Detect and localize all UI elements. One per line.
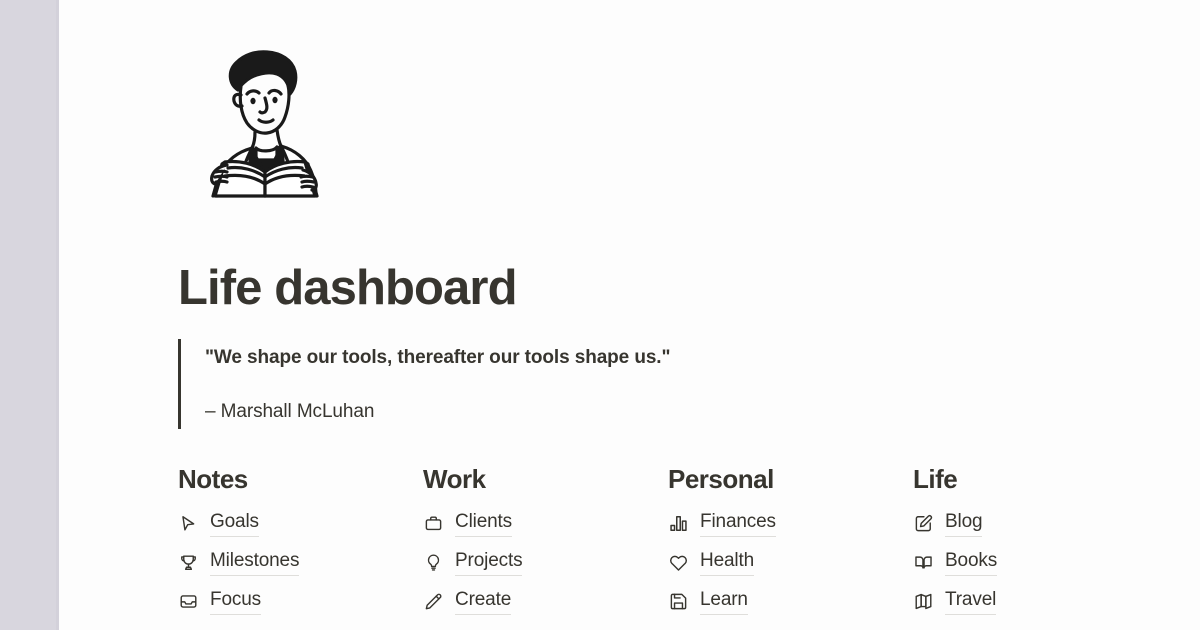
column-heading-notes: Notes: [178, 465, 423, 495]
inbox-icon: [178, 591, 198, 611]
column-heading-personal: Personal: [668, 465, 913, 495]
link-label[interactable]: Milestones: [210, 549, 299, 576]
list-item[interactable]: Clients: [423, 504, 668, 543]
heart-icon: [668, 552, 688, 572]
link-label[interactable]: Finances: [700, 510, 776, 537]
list-item[interactable]: Blog: [913, 504, 1158, 543]
quote-attribution: – Marshall McLuhan: [205, 398, 1198, 427]
column-personal: Personal Finances: [668, 465, 913, 621]
list-item[interactable]: Projects: [423, 543, 668, 582]
list-item[interactable]: Travel: [913, 582, 1158, 621]
link-label[interactable]: Create: [455, 588, 511, 615]
link-list-personal: Finances Health: [668, 504, 913, 621]
square-pen-icon: [913, 513, 933, 533]
quote-block: "We shape our tools, thereafter our tool…: [178, 339, 1198, 429]
link-label[interactable]: Health: [700, 549, 754, 576]
link-label[interactable]: Projects: [455, 549, 522, 576]
link-label[interactable]: Blog: [945, 510, 982, 537]
page-root: Life dashboard "We shape our tools, ther…: [0, 0, 1200, 630]
trophy-icon: [178, 552, 198, 572]
cursor-arrow-icon: [178, 513, 198, 533]
quote-text: "We shape our tools, thereafter our tool…: [205, 344, 1198, 373]
list-item[interactable]: Focus: [178, 582, 423, 621]
column-heading-work: Work: [423, 465, 668, 495]
page-canvas: Life dashboard "We shape our tools, ther…: [59, 0, 1200, 630]
link-label[interactable]: Focus: [210, 588, 261, 615]
list-item[interactable]: Learn: [668, 582, 913, 621]
briefcase-icon: [423, 513, 443, 533]
column-work: Work Clients: [423, 465, 668, 621]
link-columns: Notes Goals: [178, 465, 1198, 621]
folded-map-icon: [913, 591, 933, 611]
link-list-life: Blog Books: [913, 504, 1158, 621]
pencil-icon: [423, 591, 443, 611]
list-item[interactable]: Books: [913, 543, 1158, 582]
column-life: Life Blog: [913, 465, 1158, 621]
column-heading-life: Life: [913, 465, 1158, 495]
save-floppy-icon: [668, 591, 688, 611]
list-item[interactable]: Finances: [668, 504, 913, 543]
link-list-notes: Goals: [178, 504, 423, 621]
content-column: Life dashboard "We shape our tools, ther…: [178, 0, 1198, 621]
link-label[interactable]: Goals: [210, 510, 259, 537]
link-label[interactable]: Clients: [455, 510, 512, 537]
list-item[interactable]: Milestones: [178, 543, 423, 582]
bar-chart-icon: [668, 513, 688, 533]
lightbulb-icon: [423, 552, 443, 572]
open-book-icon: [913, 552, 933, 572]
link-label[interactable]: Travel: [945, 588, 996, 615]
link-label[interactable]: Learn: [700, 588, 748, 615]
link-label[interactable]: Books: [945, 549, 997, 576]
list-item[interactable]: Health: [668, 543, 913, 582]
list-item[interactable]: Goals: [178, 504, 423, 543]
list-item[interactable]: Create: [423, 582, 668, 621]
quote-spacer: [205, 372, 1198, 398]
column-notes: Notes Goals: [178, 465, 423, 621]
left-side-rail: [0, 0, 59, 630]
page-title: Life dashboard: [178, 200, 1198, 315]
person-reading-book-illustration: [189, 44, 339, 200]
link-list-work: Clients Projects: [423, 504, 668, 621]
